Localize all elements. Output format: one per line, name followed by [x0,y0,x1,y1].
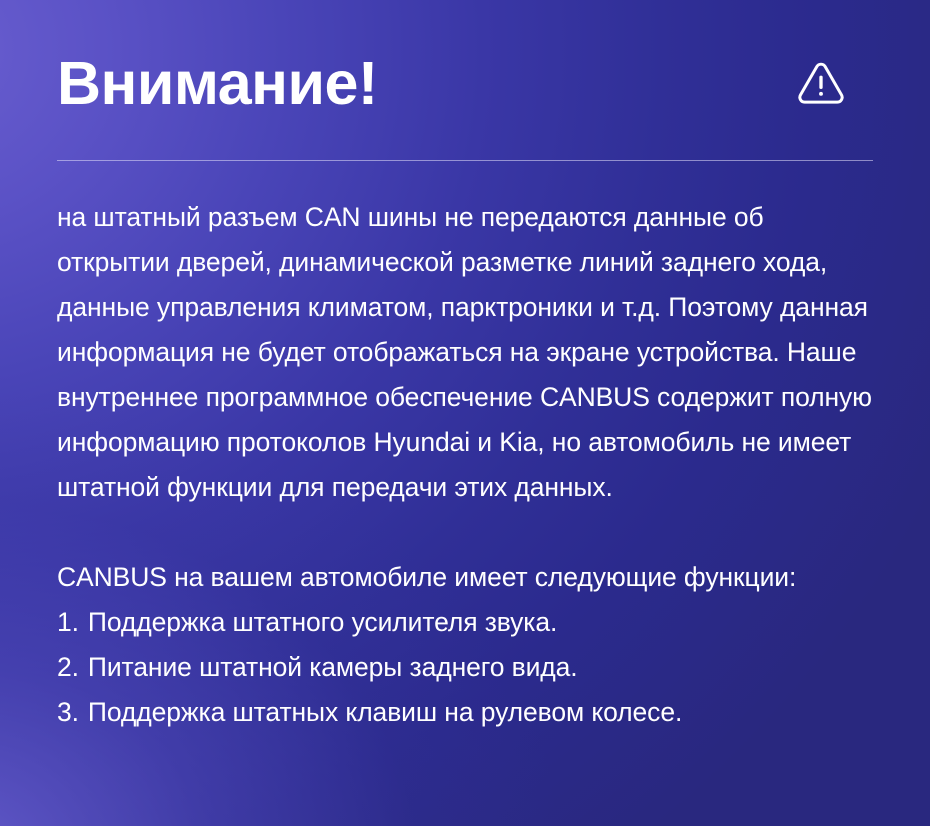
list-item-label: Питание штатной камеры заднего вида. [88,645,578,690]
list-item-label: Поддержка штатного усилителя звука. [88,600,557,645]
warning-triangle-icon [793,55,873,111]
paragraph-spacer [57,510,873,555]
list-item-label: Поддержка штатных клавиш на рулевом коле… [88,690,682,735]
list-item-number: 3. [57,690,79,735]
list-item: 3. Поддержка штатных клавиш на рулевом к… [57,690,873,735]
notice-content: Внимание! на штатный разъем CAN шины не … [0,0,930,735]
warning-notice-card: Внимание! на штатный разъем CAN шины не … [0,0,930,826]
page-title: Внимание! [57,53,378,114]
features-heading: CANBUS на вашем автомобиле имеет следующ… [57,555,873,600]
features-list: 1. Поддержка штатного усилителя звука. 2… [57,600,873,735]
list-item-number: 2. [57,645,79,690]
header-divider [57,160,873,161]
list-item: 1. Поддержка штатного усилителя звука. [57,600,873,645]
main-paragraph: на штатный разъем CAN шины не передаются… [57,195,873,510]
list-item: 2. Питание штатной камеры заднего вида. [57,645,873,690]
list-item-number: 1. [57,600,79,645]
notice-header: Внимание! [57,0,873,160]
